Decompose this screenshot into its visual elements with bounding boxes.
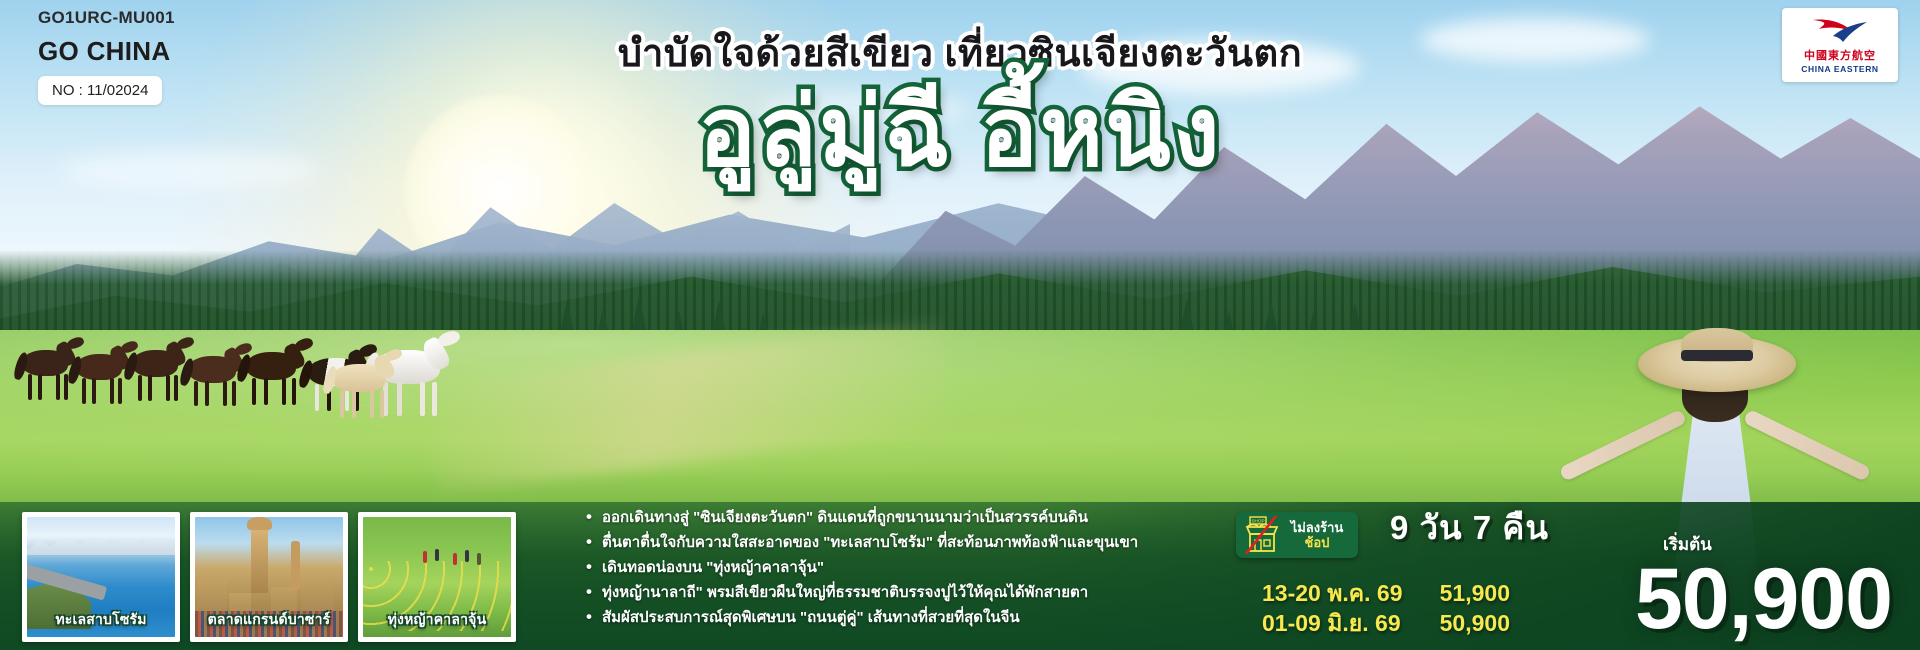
trip-duration: 9 วัน 7 คืน — [1390, 501, 1549, 554]
pine-tree — [1264, 300, 1278, 334]
subheadline: บำบัดใจด้วยสีเขียว เที่ยวซินเจียงตะวันตก — [0, 22, 1920, 83]
highlights-list: ออกเดินทางสู่ "ซินเจียงตะวันตก" ดินแดนที… — [582, 507, 1222, 632]
snow-peaks — [27, 531, 175, 555]
thumbnail-image: ตลาดแกรนด์บาซาร์ — [195, 517, 343, 637]
bazaar-tower — [251, 527, 268, 593]
no-shop-icon: SHOP — [1242, 515, 1282, 555]
highlight-item: เดินทอดน่องบน "ทุ่งหญ้าคาลาจุ้น" — [602, 557, 1222, 579]
minaret — [291, 541, 300, 589]
thumbnail-bazaar[interactable]: ตลาดแกรนด์บาซาร์ — [190, 512, 348, 642]
departure-row: 13-20 พ.ค. 69 51,900 — [1262, 578, 1510, 608]
page-title: อูลู่มู่ฉี อี้หนิง — [0, 78, 1920, 188]
hat-ribbon — [1681, 350, 1753, 361]
visitor — [465, 550, 469, 562]
visitor — [423, 551, 427, 563]
right-arm — [1743, 409, 1872, 482]
thumbnail-caption: ทะเลสาบโซรัม — [27, 609, 175, 631]
thumbnail-strip: ทะเลสาบโซรัม ตลาดแกรนด์บาซาร์ — [22, 512, 516, 642]
departure-schedule: 13-20 พ.ค. 69 51,900 01-09 มิ.ย. 69 50,9… — [1262, 578, 1510, 638]
departure-date: 13-20 พ.ค. 69 — [1262, 578, 1404, 608]
no-shop-line1: ไม่ลงร้าน — [1291, 520, 1344, 535]
left-arm — [1558, 409, 1687, 482]
svg-text:SHOP: SHOP — [1251, 519, 1264, 524]
visitor — [477, 553, 481, 565]
no-shopping-badge: SHOP ไม่ลงร้าน ช้อป — [1236, 512, 1358, 558]
thumbnail-caption: ทุ่งหญ้าคาลาจุ้น — [363, 609, 511, 631]
departure-price: 50,900 — [1418, 608, 1510, 638]
price-block: เริ่มต้น 50,900 — [1635, 531, 1892, 646]
pine-tree — [712, 300, 726, 334]
highlight-item: ออกเดินทางสู่ "ซินเจียงตะวันตก" ดินแดนที… — [602, 507, 1222, 529]
pine-tree — [560, 300, 574, 334]
no-shop-label: ไม่ลงร้าน ช้อป — [1282, 520, 1352, 550]
no-shop-line2: ช้อป — [1305, 535, 1330, 550]
visitor — [435, 549, 439, 561]
highlight-item: ทุ่งหญ้านาลาถี" พรมสีเขียวผืนใหญ่ที่ธรรม… — [602, 582, 1222, 604]
pine-tree — [1180, 298, 1194, 332]
pine-tree — [632, 296, 646, 330]
thumbnail-image: ทะเลสาบโซรัม — [27, 517, 175, 637]
departure-price: 51,900 — [1418, 578, 1510, 608]
departure-date: 01-09 มิ.ย. 69 — [1262, 608, 1404, 638]
thumbnail-caption: ตลาดแกรนด์บาซาร์ — [195, 609, 343, 631]
horse-herd-dark — [244, 342, 308, 410]
travel-banner: GO1URC-MU001 GO CHINA NO : 11/02024 中國東方… — [0, 0, 1920, 650]
horse-cream — [330, 352, 400, 422]
departure-row: 01-09 มิ.ย. 69 50,900 — [1262, 608, 1510, 638]
thumbnail-grassland[interactable]: ทุ่งหญ้าคาลาจุ้น — [358, 512, 516, 642]
highlight-item: สัมผัสประสบการณ์สุดพิเศษบน "ถนนตู่คู่" เ… — [602, 607, 1222, 629]
price-amount: 50,900 — [1635, 552, 1892, 646]
thumbnail-image: ทุ่งหญ้าคาลาจุ้น — [363, 517, 511, 637]
thumbnail-lake[interactable]: ทะเลสาบโซรัม — [22, 512, 180, 642]
highlight-item: ตื่นตาตื่นใจกับความใสสะอาดของ "ทะเลสาบโซ… — [602, 532, 1222, 554]
visitor — [453, 553, 457, 565]
